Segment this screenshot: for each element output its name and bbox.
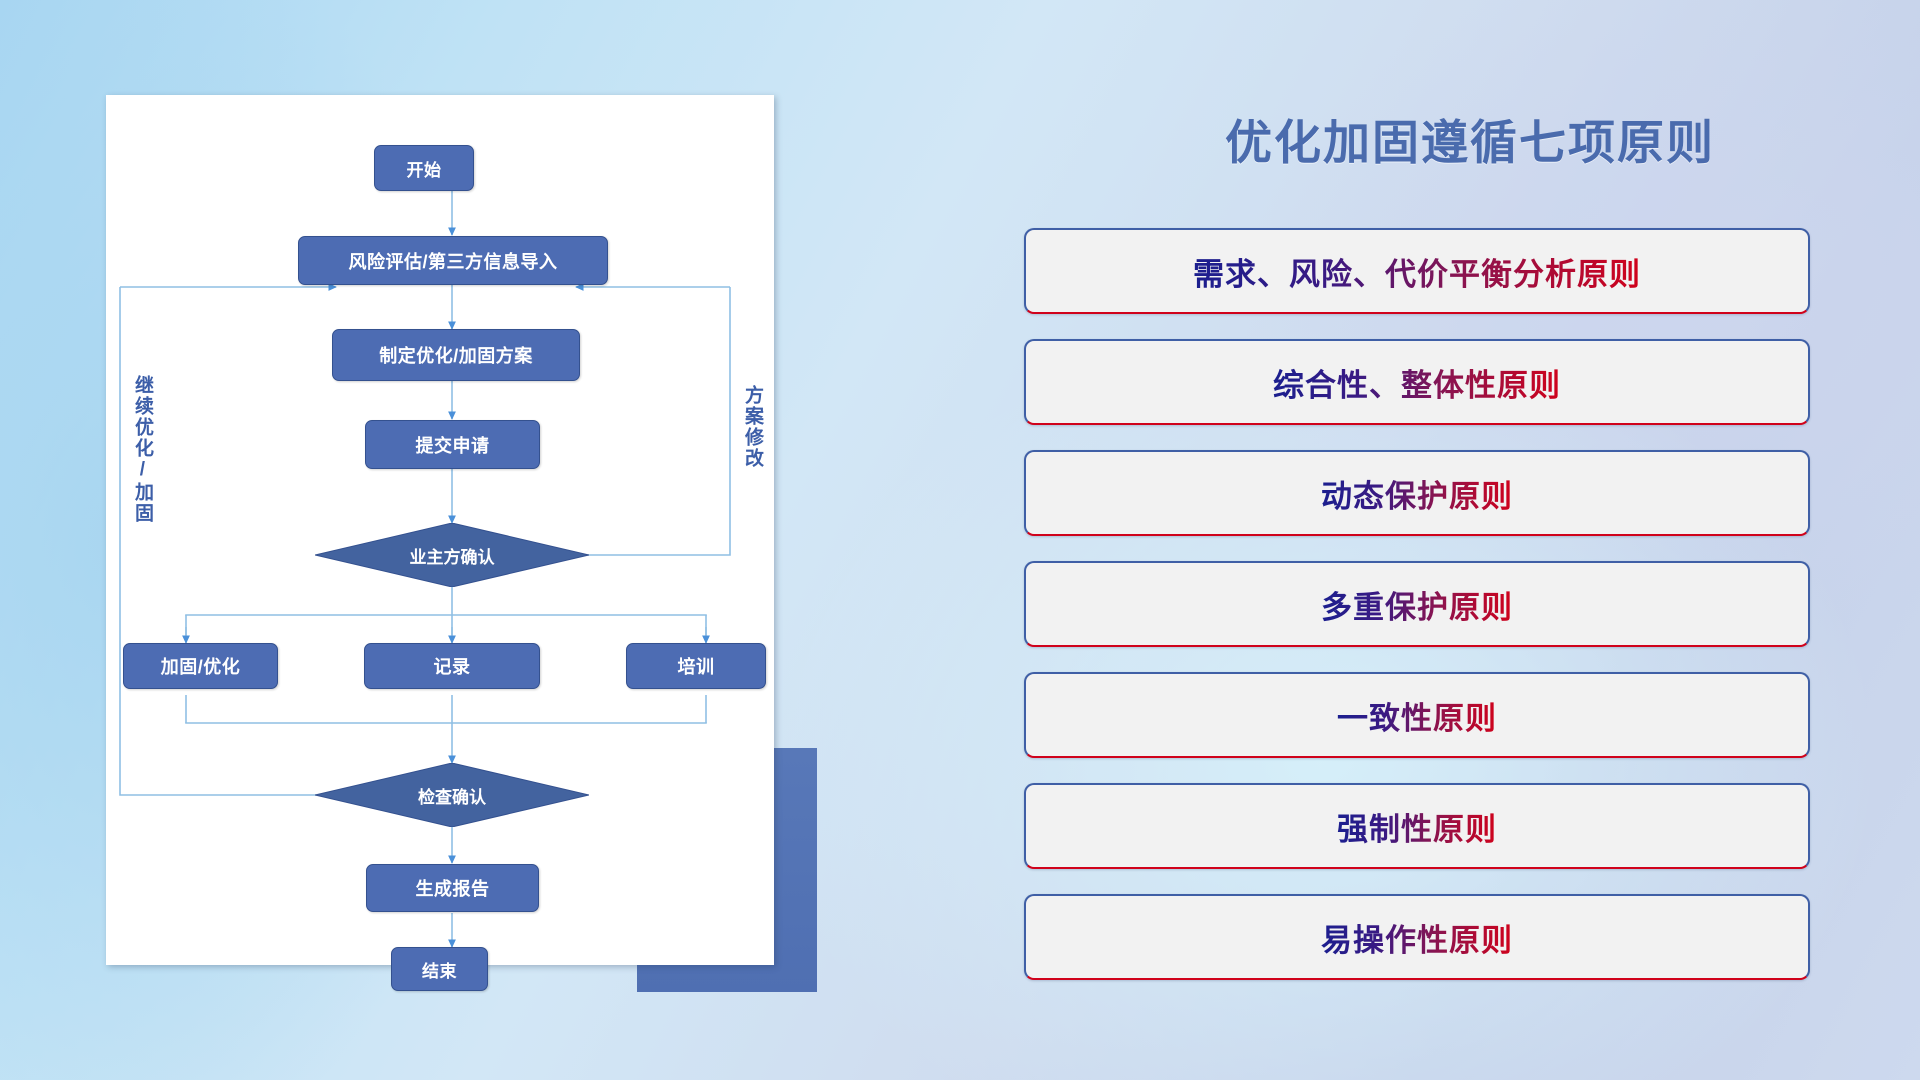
edge-label-continue-optimize: 继续优化/加固 (132, 375, 152, 524)
principle-label: 多重保护原则 (1321, 582, 1513, 627)
edge-label-plan-revision: 方案修改 (742, 385, 762, 469)
flow-node-start[interactable]: 开始 (374, 145, 474, 191)
flow-node-label: 开始 (407, 156, 442, 181)
flow-node-risk-assessment[interactable]: 风险评估/第三方信息导入 (298, 236, 608, 285)
principle-item-5[interactable]: 一致性原则 (1024, 672, 1810, 758)
flow-node-record[interactable]: 记录 (364, 643, 540, 689)
flow-node-label: 生成报告 (416, 875, 490, 901)
page-title: 优化加固遵循七项原则 (1020, 104, 1920, 173)
flow-node-label: 制定优化/加固方案 (379, 342, 533, 368)
principle-label: 需求、风险、代价平衡分析原则 (1193, 249, 1641, 294)
flow-node-label: 提交申请 (416, 432, 490, 458)
principles-list: 需求、风险、代价平衡分析原则 综合性、整体性原则 动态保护原则 多重保护原则 一… (1024, 228, 1810, 1005)
principle-label: 易操作性原则 (1321, 915, 1513, 960)
slide-canvas: 开始 风险评估/第三方信息导入 制定优化/加固方案 提交申请 业主方确认 加固/… (0, 0, 1920, 1080)
flow-node-label: 业主方确认 (315, 523, 589, 587)
flow-node-check-confirm[interactable]: 检查确认 (315, 763, 589, 827)
flowchart-card: 开始 风险评估/第三方信息导入 制定优化/加固方案 提交申请 业主方确认 加固/… (106, 95, 774, 965)
principle-label: 强制性原则 (1337, 804, 1497, 849)
flow-node-label: 培训 (678, 653, 715, 679)
flow-node-label: 检查确认 (315, 763, 589, 827)
principle-item-6[interactable]: 强制性原则 (1024, 783, 1810, 869)
principle-item-7[interactable]: 易操作性原则 (1024, 894, 1810, 980)
principle-item-2[interactable]: 综合性、整体性原则 (1024, 339, 1810, 425)
flow-node-submit-application[interactable]: 提交申请 (365, 420, 540, 469)
principles-panel: 优化加固遵循七项原则 需求、风险、代价平衡分析原则 综合性、整体性原则 动态保护… (1020, 0, 1920, 1080)
flow-node-training[interactable]: 培训 (626, 643, 766, 689)
principle-label: 一致性原则 (1337, 693, 1497, 738)
flow-node-reinforce-optimize[interactable]: 加固/优化 (123, 643, 278, 689)
flow-node-label: 记录 (434, 653, 471, 679)
flow-node-label: 加固/优化 (161, 653, 241, 679)
flow-node-end[interactable]: 结束 (391, 947, 488, 991)
flow-node-label: 结束 (422, 957, 457, 982)
flow-node-make-plan[interactable]: 制定优化/加固方案 (332, 329, 580, 381)
principle-label: 综合性、整体性原则 (1273, 360, 1561, 405)
principle-label: 动态保护原则 (1321, 471, 1513, 516)
flow-node-label: 风险评估/第三方信息导入 (349, 248, 558, 274)
flow-node-generate-report[interactable]: 生成报告 (366, 864, 539, 912)
principle-item-1[interactable]: 需求、风险、代价平衡分析原则 (1024, 228, 1810, 314)
principle-item-3[interactable]: 动态保护原则 (1024, 450, 1810, 536)
flow-node-owner-confirm[interactable]: 业主方确认 (315, 523, 589, 587)
principle-item-4[interactable]: 多重保护原则 (1024, 561, 1810, 647)
